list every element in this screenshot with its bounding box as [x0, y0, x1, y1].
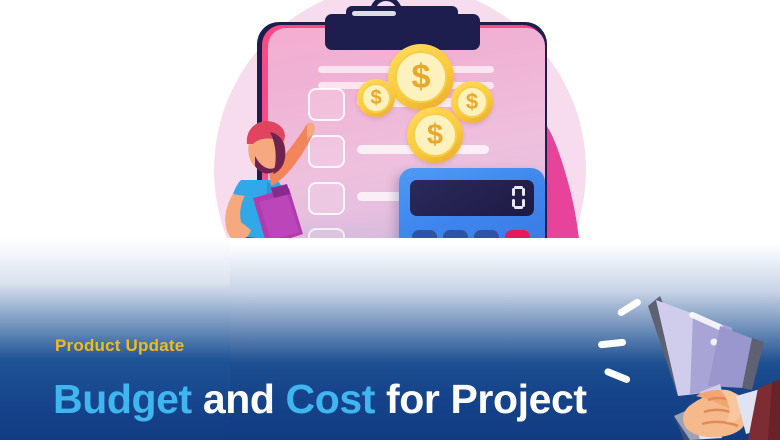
coin-small-left: $ [357, 79, 395, 117]
dollar-sign-icon: $ [357, 79, 395, 117]
coin-large-top: $ [388, 44, 454, 110]
headline-word-and: and [203, 376, 275, 422]
megaphone-illustration [596, 296, 780, 440]
headline-words-for-project: for Project [386, 376, 587, 422]
headline-word-cost: Cost [286, 376, 376, 422]
clipboard-clip-highlight [352, 11, 396, 16]
page-title: Budget and Cost for Project [53, 378, 587, 421]
coin-medium-bottom: $ [407, 107, 463, 163]
headline-word-budget: Budget [53, 376, 192, 422]
kicker-text: Product Update [55, 336, 184, 356]
promo-banner: $ $ $ $ [0, 0, 780, 440]
dollar-sign-icon: $ [388, 44, 454, 110]
dollar-sign-icon: $ [407, 107, 463, 163]
